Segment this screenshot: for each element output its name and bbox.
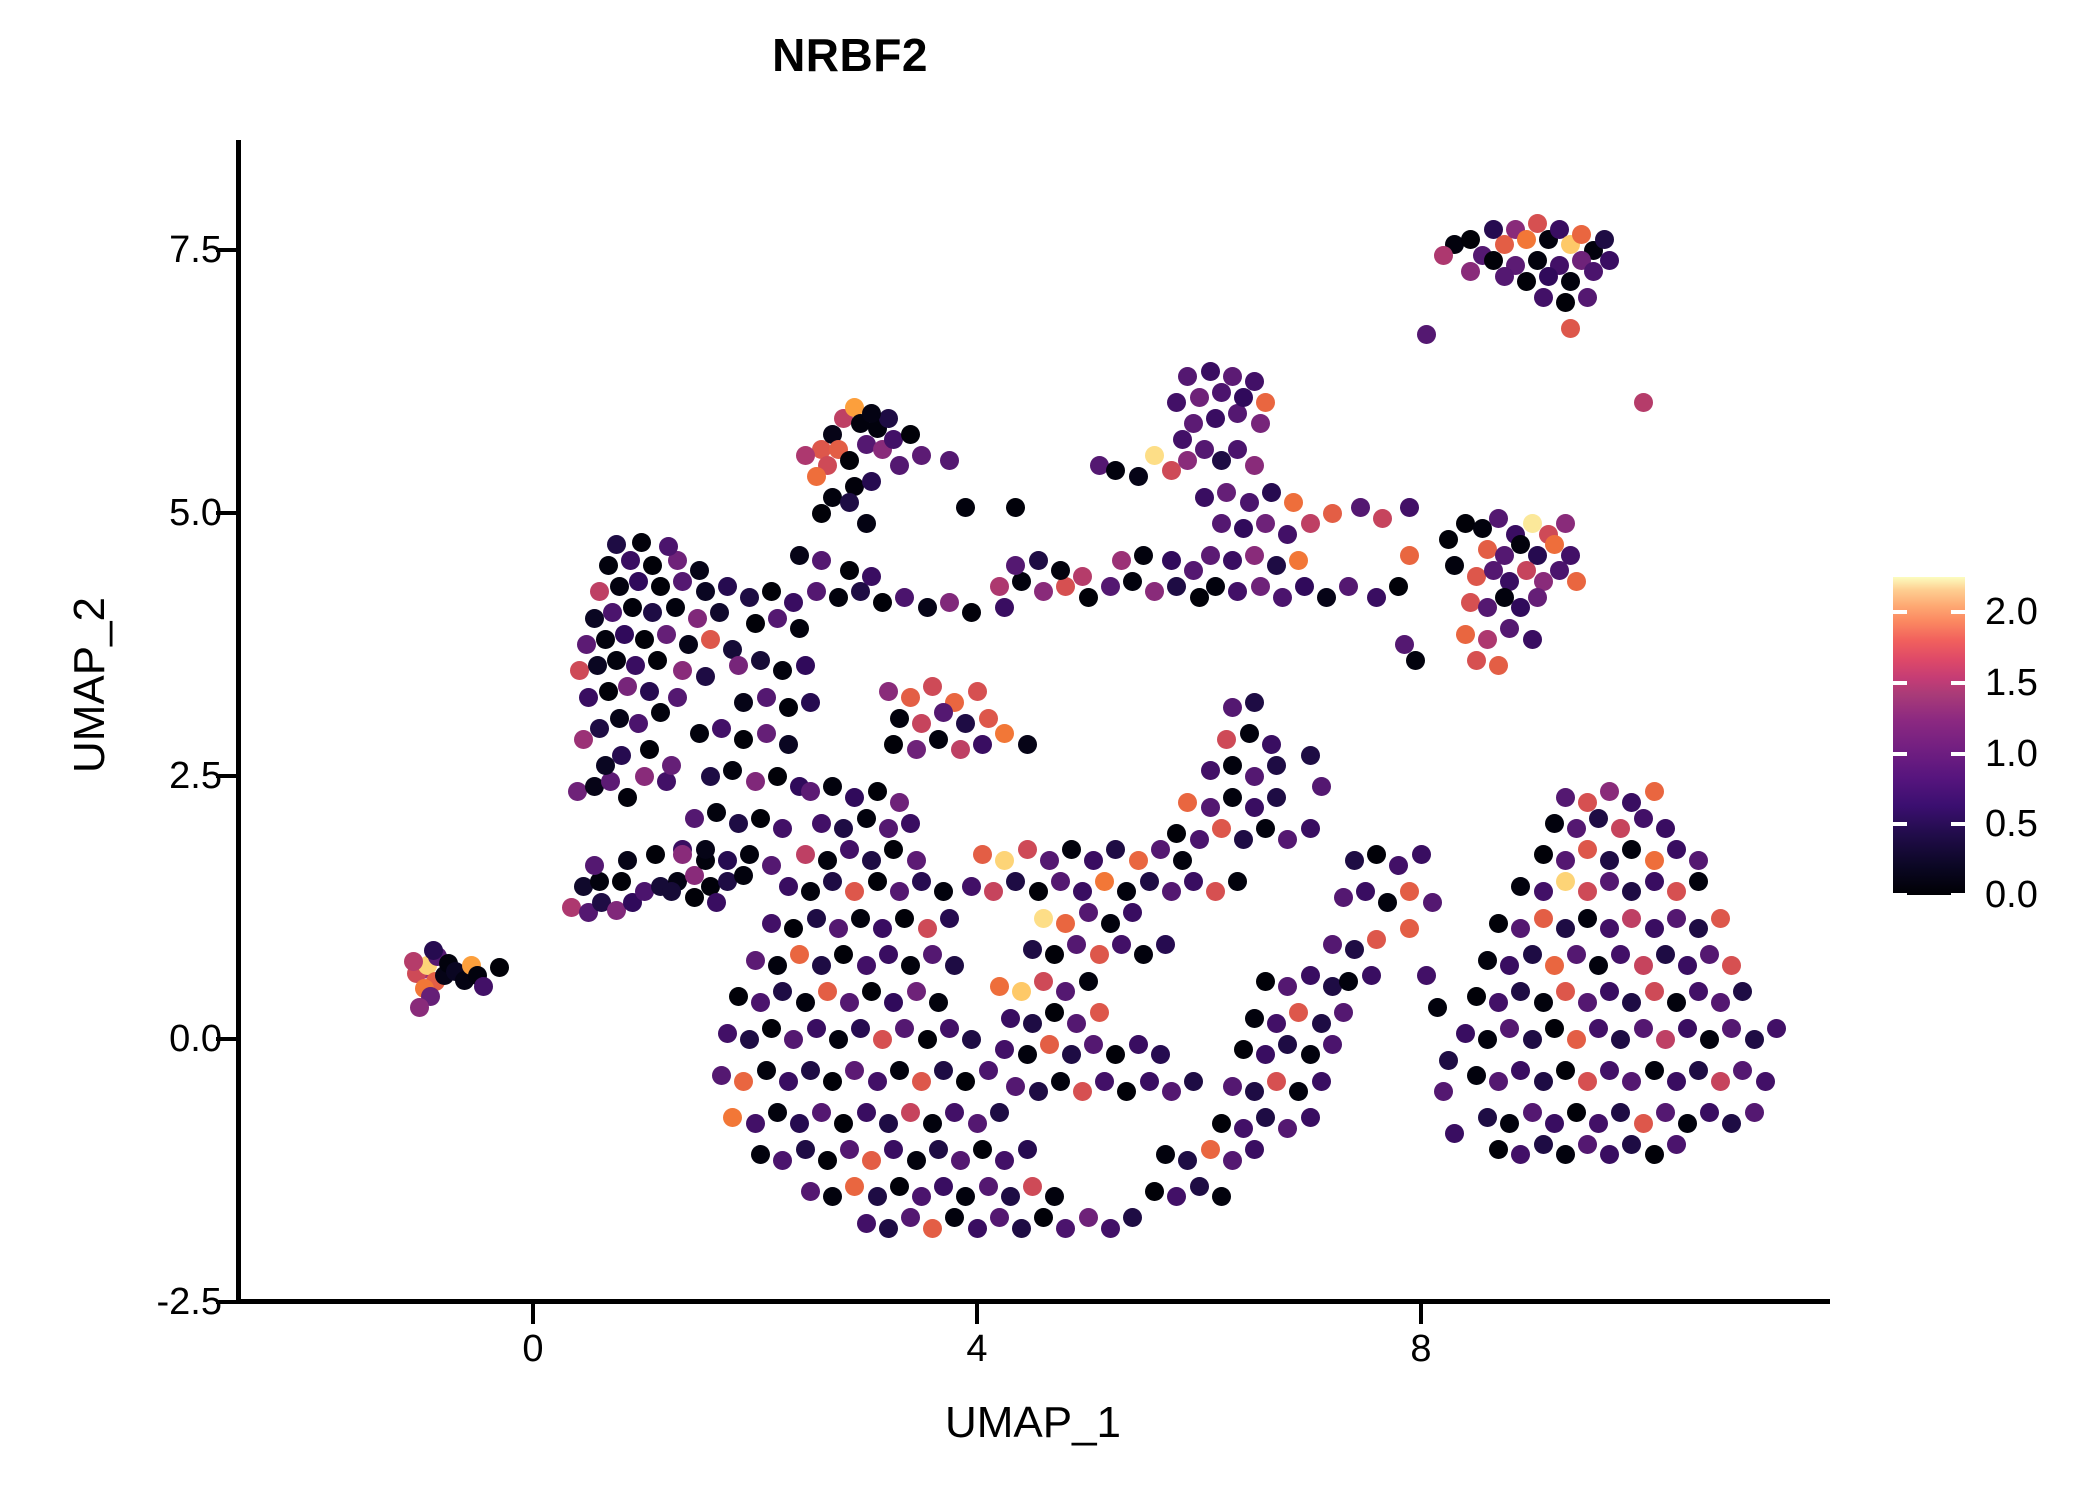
scatter-point (1589, 1019, 1608, 1038)
scatter-point (812, 551, 831, 570)
scatter-point (607, 535, 626, 554)
scatter-point (1634, 809, 1653, 828)
scatter-point (751, 809, 770, 828)
scatter-point (840, 451, 859, 470)
scatter-point (1267, 788, 1286, 807)
scatter-point (685, 809, 704, 828)
scatter-point (1173, 430, 1192, 449)
scatter-point (757, 724, 776, 743)
scatter-point (740, 845, 759, 864)
scatter-point (907, 1151, 926, 1170)
scatter-point (1245, 1082, 1264, 1101)
scatter-point (1256, 819, 1275, 838)
scatter-point (1212, 514, 1231, 533)
scatter-point (1178, 367, 1197, 386)
scatter-point (1101, 914, 1120, 933)
scatter-point (818, 1151, 837, 1170)
scatter-point (857, 1214, 876, 1233)
scatter-point (746, 614, 765, 633)
scatter-point (1689, 851, 1708, 870)
colorbar-tick-label: 2.0 (1985, 593, 2038, 631)
scatter-point (940, 909, 959, 928)
scatter-point (621, 551, 640, 570)
scatter-point (1195, 488, 1214, 507)
scatter-point (1289, 551, 1308, 570)
scatter-point (762, 914, 781, 933)
scatter-point (956, 498, 975, 517)
scatter-point (1256, 1045, 1275, 1064)
scatter-point (873, 1030, 892, 1049)
y-tick-label: 5.0 (22, 494, 222, 532)
scatter-point (823, 872, 842, 891)
scatter-point (1034, 972, 1053, 991)
scatter-point (610, 709, 629, 728)
scatter-point (1106, 1045, 1125, 1064)
scatter-point (734, 866, 753, 885)
scatter-point (618, 788, 637, 807)
scatter-point (1511, 982, 1530, 1001)
scatter-point (659, 537, 678, 556)
scatter-point (790, 1114, 809, 1133)
scatter-point (1267, 556, 1286, 575)
scatter-point (1600, 851, 1619, 870)
scatter-point (1201, 546, 1220, 565)
scatter-point (1634, 1114, 1653, 1133)
scatter-point (1611, 945, 1630, 964)
scatter-point (1539, 267, 1558, 286)
scatter-point (1278, 830, 1297, 849)
scatter-point (1234, 1119, 1253, 1138)
scatter-point (1167, 1187, 1186, 1206)
scatter-point (951, 740, 970, 759)
scatter-point (1018, 840, 1037, 859)
scatter-point (1534, 1072, 1553, 1091)
scatter-point (1223, 788, 1242, 807)
scatter-point (1228, 582, 1247, 601)
scatter-point (779, 735, 798, 754)
scatter-point (1245, 1009, 1264, 1028)
scatter-point (588, 656, 607, 675)
scatter-point (1001, 1187, 1020, 1206)
scatter-point (746, 772, 765, 791)
x-tick-label: 8 (1341, 1330, 1501, 1368)
scatter-point (490, 958, 509, 977)
scatter-point (1656, 819, 1675, 838)
scatter-point (1345, 851, 1364, 870)
scatter-point (1101, 577, 1120, 596)
scatter-point (1245, 693, 1264, 712)
scatter-point (834, 1114, 853, 1133)
scatter-point (734, 1072, 753, 1091)
scatter-point (879, 1114, 898, 1133)
scatter-point (570, 661, 589, 680)
scatter-point (1090, 945, 1109, 964)
scatter-point (751, 993, 770, 1012)
y-tick-label: -2.5 (22, 1283, 222, 1321)
scatter-point (1079, 903, 1098, 922)
scatter-point (603, 603, 622, 622)
scatter-point (812, 1103, 831, 1122)
scatter-point (851, 909, 870, 928)
scatter-point (773, 661, 792, 680)
scatter-point (1667, 840, 1686, 859)
scatter-point (1567, 1030, 1586, 1049)
scatter-point (623, 598, 642, 617)
scatter-point (1400, 919, 1419, 938)
scatter-point (773, 1151, 792, 1170)
scatter-point (962, 1030, 981, 1049)
scatter-point (757, 1061, 776, 1080)
scatter-point (1301, 746, 1320, 765)
scatter-point (857, 809, 876, 828)
scatter-point (1334, 888, 1353, 907)
scatter-point (1245, 1140, 1264, 1159)
scatter-point (973, 1140, 992, 1159)
scatter-point (1217, 730, 1236, 749)
scatter-point (1600, 251, 1619, 270)
scatter-point (1034, 909, 1053, 928)
scatter-point (1273, 588, 1292, 607)
scatter-point (1722, 1019, 1741, 1038)
scatter-point (1589, 956, 1608, 975)
scatter-point (746, 1114, 765, 1133)
scatter-point (1700, 1030, 1719, 1049)
x-tick-mark (531, 1304, 535, 1324)
scatter-point (1251, 414, 1270, 433)
scatter-point (1439, 530, 1458, 549)
scatter-point (995, 598, 1014, 617)
scatter-point (723, 1108, 742, 1127)
scatter-point (1190, 588, 1209, 607)
scatter-point (895, 1019, 914, 1038)
scatter-point (1367, 930, 1386, 949)
scatter-point (1073, 882, 1092, 901)
scatter-point (718, 851, 737, 870)
scatter-point (918, 919, 937, 938)
scatter-point (1223, 756, 1242, 775)
scatter-point (1262, 483, 1281, 502)
scatter-point (1611, 1030, 1630, 1049)
scatter-point (1256, 393, 1275, 412)
scatter-point (1534, 909, 1553, 928)
scatter-point (1500, 619, 1519, 638)
scatter-point (834, 945, 853, 964)
scatter-point (1212, 1114, 1231, 1133)
scatter-point (962, 603, 981, 622)
scatter-point (1312, 1014, 1331, 1033)
scatter-point (1511, 1061, 1530, 1080)
y-tick-label: 2.5 (22, 757, 222, 795)
scatter-point (890, 793, 909, 812)
scatter-point (962, 877, 981, 896)
scatter-point (1162, 551, 1181, 570)
scatter-point (845, 788, 864, 807)
scatter-point (746, 951, 765, 970)
scatter-point (1722, 1114, 1741, 1133)
scatter-point (404, 952, 423, 971)
scatter-point (1689, 1061, 1708, 1080)
scatter-point (1317, 588, 1336, 607)
scatter-point (1362, 966, 1381, 985)
scatter-point (1079, 1208, 1098, 1227)
scatter-point (907, 851, 926, 870)
scatter-point (812, 504, 831, 523)
scatter-point (990, 577, 1009, 596)
scatter-point (1622, 1135, 1641, 1154)
scatter-point (762, 856, 781, 875)
scatter-point (1578, 909, 1597, 928)
scatter-point (1584, 262, 1603, 281)
scatter-point (1700, 945, 1719, 964)
scatter-point (1073, 567, 1092, 586)
scatter-point (1656, 945, 1675, 964)
scatter-point (979, 1061, 998, 1080)
scatter-point (934, 1177, 953, 1196)
scatter-point (807, 582, 826, 601)
scatter-point (1495, 267, 1514, 286)
scatter-point (701, 630, 720, 649)
scatter-point (1678, 1019, 1697, 1038)
scatter-point (1733, 1061, 1752, 1080)
scatter-point (1212, 451, 1231, 470)
scatter-point (1223, 367, 1242, 386)
scatter-point (1445, 1124, 1464, 1143)
scatter-point (1029, 882, 1048, 901)
scatter-point (907, 982, 926, 1001)
scatter-point (1234, 830, 1253, 849)
scatter-point (1523, 1030, 1542, 1049)
scatter-point-layer (0, 0, 2100, 1500)
scatter-point (1006, 1077, 1025, 1096)
scatter-point (610, 577, 629, 596)
scatter-point (1722, 956, 1741, 975)
scatter-point (1278, 977, 1297, 996)
scatter-point (790, 546, 809, 565)
scatter-point (1556, 514, 1575, 533)
scatter-point (1178, 451, 1197, 470)
scatter-point (1500, 1114, 1519, 1133)
scatter-point (1001, 1009, 1020, 1028)
colorbar-tick-label: 0.0 (1985, 876, 2038, 914)
scatter-point (1600, 982, 1619, 1001)
scatter-point (1067, 1014, 1086, 1033)
scatter-point (1489, 1072, 1508, 1091)
x-tick-label: 4 (897, 1330, 1057, 1368)
scatter-point (890, 1061, 909, 1080)
scatter-point (1167, 393, 1186, 412)
scatter-point (1129, 851, 1148, 870)
scatter-point (1140, 1072, 1159, 1091)
scatter-point (901, 688, 920, 707)
scatter-point (1212, 383, 1231, 402)
scatter-point (1018, 1140, 1037, 1159)
scatter-point (1079, 588, 1098, 607)
scatter-point (1545, 814, 1564, 833)
scatter-point (688, 609, 707, 628)
scatter-point (1556, 788, 1575, 807)
scatter-point (1062, 840, 1081, 859)
scatter-point (862, 404, 881, 423)
scatter-point (923, 945, 942, 964)
scatter-point (890, 882, 909, 901)
scatter-point (696, 840, 715, 859)
scatter-point (884, 1140, 903, 1159)
scatter-point (929, 730, 948, 749)
scatter-point (968, 682, 987, 701)
scatter-point (1178, 793, 1197, 812)
scatter-point (751, 651, 770, 670)
scatter-point (1023, 940, 1042, 959)
scatter-point (1212, 1187, 1231, 1206)
scatter-point (818, 851, 837, 870)
scatter-point (857, 1103, 876, 1122)
scatter-point (829, 588, 848, 607)
scatter-point (1656, 1030, 1675, 1049)
scatter-point (1534, 1135, 1553, 1154)
scatter-point (648, 651, 667, 670)
scatter-point (823, 777, 842, 796)
scatter-point (1056, 914, 1075, 933)
scatter-point (740, 1030, 759, 1049)
scatter-point (590, 719, 609, 738)
scatter-point (1190, 388, 1209, 407)
scatter-point (1106, 840, 1125, 859)
scatter-point (956, 1187, 975, 1206)
scatter-point (768, 956, 787, 975)
colorbar-tick-label: 1.0 (1985, 735, 2038, 773)
scatter-point (1500, 1019, 1519, 1038)
scatter-point (1240, 724, 1259, 743)
scatter-point (1084, 851, 1103, 870)
scatter-point (1456, 1024, 1475, 1043)
scatter-point (1567, 945, 1586, 964)
scatter-point (1029, 551, 1048, 570)
scatter-point (607, 651, 626, 670)
scatter-point (1223, 698, 1242, 717)
scatter-point (1178, 1151, 1197, 1170)
scatter-point (884, 840, 903, 859)
scatter-point (884, 993, 903, 1012)
scatter-point (868, 1072, 887, 1091)
scatter-point (1267, 1072, 1286, 1091)
scatter-point (657, 625, 676, 644)
scatter-point (1517, 272, 1536, 291)
scatter-point (1511, 598, 1530, 617)
scatter-point (873, 593, 892, 612)
scatter-point (673, 661, 692, 680)
scatter-point (768, 1103, 787, 1122)
colorbar-gradient (1893, 577, 1965, 895)
scatter-point (956, 1072, 975, 1091)
scatter-point (1234, 1040, 1253, 1059)
scatter-point (1245, 798, 1264, 817)
scatter-point (729, 987, 748, 1006)
scatter-point (1600, 919, 1619, 938)
scatter-point (862, 472, 881, 491)
scatter-point (1339, 972, 1358, 991)
scatter-point (1323, 1035, 1342, 1054)
scatter-point (1040, 851, 1059, 870)
scatter-point (740, 588, 759, 607)
scatter-point (1595, 230, 1614, 249)
scatter-point (1167, 577, 1186, 596)
scatter-point (1622, 993, 1641, 1012)
scatter-point (1400, 882, 1419, 901)
scatter-point (690, 724, 709, 743)
scatter-point (1711, 993, 1730, 1012)
chart-root: NRBF2 -2.50.02.55.07.5 048 UMAP_1 UMAP_2… (0, 0, 2100, 1500)
scatter-point (1478, 951, 1497, 970)
y-axis-title: UMAP_2 (65, 335, 115, 1035)
scatter-point (973, 845, 992, 864)
scatter-point (474, 977, 493, 996)
scatter-point (1267, 756, 1286, 775)
scatter-point (1301, 514, 1320, 533)
scatter-point (635, 767, 654, 786)
scatter-point (845, 1061, 864, 1080)
scatter-point (1278, 1035, 1297, 1054)
scatter-point (626, 656, 645, 675)
scatter-point (1201, 798, 1220, 817)
scatter-point (1711, 1072, 1730, 1091)
scatter-point (1095, 1072, 1114, 1091)
scatter-point (1256, 514, 1275, 533)
scatter-point (862, 567, 881, 586)
colorbar-tick-mark (1951, 752, 1965, 756)
scatter-point (1456, 625, 1475, 644)
scatter-point (1056, 1219, 1075, 1238)
scatter-point (651, 703, 670, 722)
scatter-point (1534, 845, 1553, 864)
scatter-point (1567, 1103, 1586, 1122)
scatter-point (734, 730, 753, 749)
scatter-point (1428, 998, 1447, 1017)
scatter-point (1140, 872, 1159, 891)
scatter-point (1245, 546, 1264, 565)
scatter-point (1711, 909, 1730, 928)
scatter-point (1190, 830, 1209, 849)
scatter-point (1556, 1061, 1575, 1080)
scatter-point (918, 598, 937, 617)
scatter-point (1339, 577, 1358, 596)
scatter-point (1406, 651, 1425, 670)
scatter-point (851, 1019, 870, 1038)
scatter-point (995, 1151, 1014, 1170)
scatter-point (918, 1030, 937, 1049)
scatter-point (1489, 509, 1508, 528)
scatter-point (1478, 1030, 1497, 1049)
colorbar-tick-mark (1893, 822, 1907, 826)
scatter-point (640, 682, 659, 701)
scatter-point (1023, 1177, 1042, 1196)
scatter-point (596, 630, 615, 649)
scatter-point (757, 688, 776, 707)
scatter-point (1256, 1108, 1275, 1127)
scatter-point (784, 1030, 803, 1049)
scatter-point (1561, 319, 1580, 338)
scatter-point (990, 1208, 1009, 1227)
scatter-point (807, 1019, 826, 1038)
scatter-point (1367, 845, 1386, 864)
scatter-point (1556, 982, 1575, 1001)
scatter-point (1345, 940, 1364, 959)
scatter-point (1156, 1145, 1175, 1164)
scatter-point (729, 656, 748, 675)
scatter-point (1600, 872, 1619, 891)
y-axis-line (236, 140, 241, 1303)
scatter-point (1600, 1061, 1619, 1080)
scatter-point (1578, 288, 1597, 307)
